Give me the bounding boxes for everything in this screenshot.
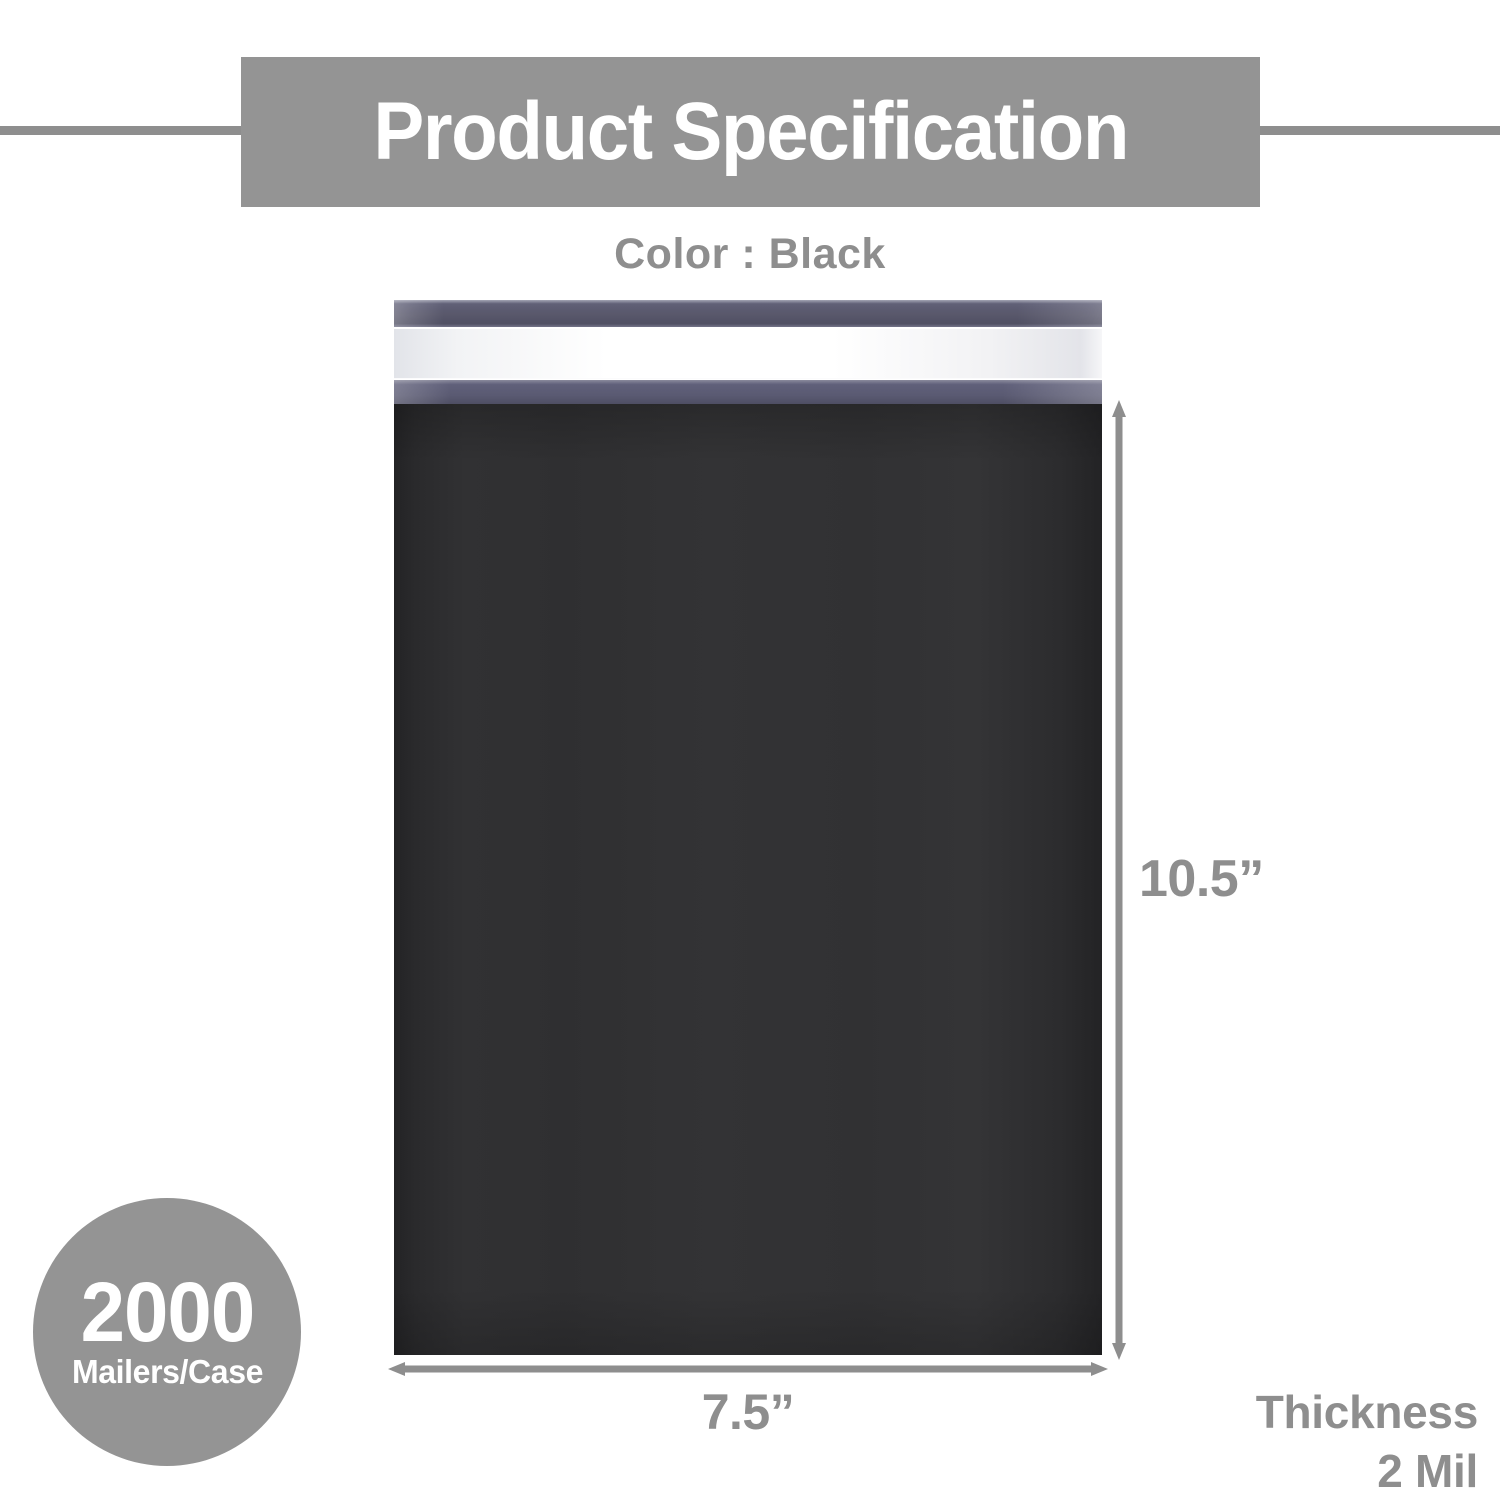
quantity-badge-unit: Mailers/Case <box>71 1355 262 1390</box>
mailer-adhesive-liner-strip <box>394 328 1102 379</box>
mailer-body <box>394 404 1102 1355</box>
width-dimension-arrow-icon <box>388 1362 1108 1376</box>
height-dimension-arrow-icon <box>1112 400 1126 1360</box>
quantity-badge: 2000 Mailers/Case <box>33 1198 301 1466</box>
header-banner: Product Specification <box>241 57 1260 207</box>
header-rule-right <box>1248 126 1500 135</box>
header-rule-left <box>0 126 252 135</box>
thickness-block: Thickness 2 Mil <box>1256 1383 1478 1501</box>
thickness-value: 2 Mil <box>1256 1442 1478 1501</box>
page-title: Product Specification <box>373 91 1128 173</box>
quantity-badge-count: 2000 <box>80 1274 254 1351</box>
color-caption: Color : Black <box>0 230 1500 279</box>
thickness-label: Thickness <box>1256 1383 1478 1442</box>
height-dimension-label: 10.5” <box>1129 845 1272 913</box>
mailer-flap-bottom-strip <box>394 380 1102 405</box>
mailer-flap-top-strip <box>394 300 1102 327</box>
product-image-poly-mailer <box>394 300 1102 1355</box>
width-dimension-label: 7.5” <box>394 1383 1102 1441</box>
